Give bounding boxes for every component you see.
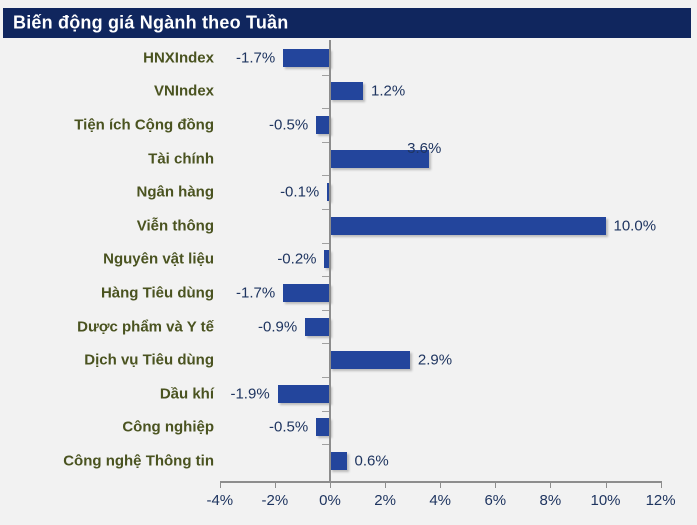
chart-row: Dịch vụ Tiêu dùng2.9% bbox=[0, 343, 697, 377]
x-axis-tick-label: -4% bbox=[196, 492, 244, 509]
bar[interactable] bbox=[330, 217, 606, 235]
value-label: -0.2% bbox=[277, 251, 316, 268]
value-label: -1.7% bbox=[236, 49, 275, 66]
x-axis-tick bbox=[440, 481, 441, 488]
y-axis-tick bbox=[322, 142, 329, 143]
category-label: Dịch vụ Tiêu dùng bbox=[84, 352, 214, 369]
y-axis-tick bbox=[322, 108, 329, 109]
x-axis-tick bbox=[606, 481, 607, 488]
chart-row: Công nghiệp-0.5% bbox=[0, 411, 697, 445]
y-axis-tick bbox=[322, 310, 329, 311]
value-label: 10.0% bbox=[614, 217, 657, 234]
chart-row: Dầu khí-1.9% bbox=[0, 377, 697, 411]
category-label: HNXIndex bbox=[143, 49, 214, 66]
category-label: Hàng Tiêu dùng bbox=[101, 284, 214, 301]
zero-axis-line bbox=[329, 40, 331, 482]
x-axis-tick-label: 0% bbox=[306, 492, 354, 509]
y-axis-tick bbox=[322, 343, 329, 344]
x-axis-tick-label: 6% bbox=[471, 492, 519, 509]
category-label: Tiện ích Cộng đồng bbox=[74, 116, 214, 133]
category-label: Viễn thông bbox=[137, 217, 214, 234]
plot-area: HNXIndex-1.7%VNIndex1.2%Tiện ích Cộng đồ… bbox=[0, 40, 697, 485]
bar[interactable] bbox=[305, 318, 330, 336]
chart-row: Dược phẩm và Y tế-0.9% bbox=[0, 310, 697, 344]
chart-container: Biến động giá Ngành theo Tuần HNXIndex-1… bbox=[0, 0, 697, 525]
category-label: Dầu khí bbox=[160, 385, 214, 402]
value-label: 0.6% bbox=[355, 452, 389, 469]
value-label: -0.9% bbox=[258, 318, 297, 335]
bar[interactable] bbox=[283, 284, 330, 302]
value-label: -0.5% bbox=[269, 419, 308, 436]
x-axis-tick bbox=[330, 481, 331, 488]
value-label: 2.9% bbox=[418, 352, 452, 369]
bar[interactable] bbox=[330, 351, 410, 369]
x-axis-tick bbox=[661, 481, 662, 488]
bar[interactable] bbox=[283, 49, 330, 67]
y-axis-tick bbox=[322, 75, 329, 76]
chart-row: Ngân hàng-0.1% bbox=[0, 175, 697, 209]
bar[interactable] bbox=[278, 385, 330, 403]
category-label: Ngân hàng bbox=[137, 184, 215, 201]
bar[interactable] bbox=[330, 82, 363, 100]
x-axis-tick-label: -2% bbox=[251, 492, 299, 509]
value-label: -1.9% bbox=[230, 385, 269, 402]
y-axis-tick bbox=[322, 444, 329, 445]
y-axis-tick bbox=[322, 243, 329, 244]
category-label: VNIndex bbox=[154, 83, 214, 100]
value-label: 3.6% bbox=[407, 140, 441, 157]
x-axis-tick-label: 4% bbox=[416, 492, 464, 509]
y-axis-tick bbox=[322, 175, 329, 176]
y-axis-tick bbox=[322, 276, 329, 277]
chart-row: Công nghệ Thông tin0.6% bbox=[0, 444, 697, 478]
x-axis-tick bbox=[385, 481, 386, 488]
value-label: -0.1% bbox=[280, 184, 319, 201]
y-axis-tick bbox=[322, 209, 329, 210]
chart-row: Tài chính3.6% bbox=[0, 142, 697, 176]
chart-row: Viễn thông10.0% bbox=[0, 209, 697, 243]
x-axis-tick-label: 8% bbox=[526, 492, 574, 509]
category-label: Dược phẩm và Y tế bbox=[77, 318, 214, 335]
category-label: Nguyên vật liệu bbox=[103, 251, 214, 268]
y-axis-tick bbox=[322, 377, 329, 378]
bar[interactable] bbox=[316, 418, 330, 436]
x-axis-tick bbox=[495, 481, 496, 488]
chart-title-bar: Biến động giá Ngành theo Tuần bbox=[3, 8, 691, 38]
value-label: 1.2% bbox=[371, 83, 405, 100]
category-label: Công nghiệp bbox=[122, 419, 214, 436]
chart-row: Tiện ích Cộng đồng-0.5% bbox=[0, 108, 697, 142]
x-axis-tick-label: 12% bbox=[637, 492, 685, 509]
y-axis-tick bbox=[322, 411, 329, 412]
category-label: Tài chính bbox=[148, 150, 214, 167]
value-label: -1.7% bbox=[236, 284, 275, 301]
x-axis-tick-label: 2% bbox=[361, 492, 409, 509]
bar[interactable] bbox=[330, 452, 347, 470]
x-axis-tick bbox=[550, 481, 551, 488]
chart-row: Nguyên vật liệu-0.2% bbox=[0, 243, 697, 277]
chart-row: HNXIndex-1.7% bbox=[0, 41, 697, 75]
x-axis-tick bbox=[220, 481, 221, 488]
category-label: Công nghệ Thông tin bbox=[63, 452, 214, 469]
value-label: -0.5% bbox=[269, 116, 308, 133]
chart-row: Hàng Tiêu dùng-1.7% bbox=[0, 276, 697, 310]
bar[interactable] bbox=[316, 116, 330, 134]
x-axis-tick bbox=[275, 481, 276, 488]
x-axis-tick-label: 10% bbox=[582, 492, 630, 509]
chart-row: VNIndex1.2% bbox=[0, 75, 697, 109]
page-title: Biến động giá Ngành theo Tuần bbox=[13, 13, 288, 34]
